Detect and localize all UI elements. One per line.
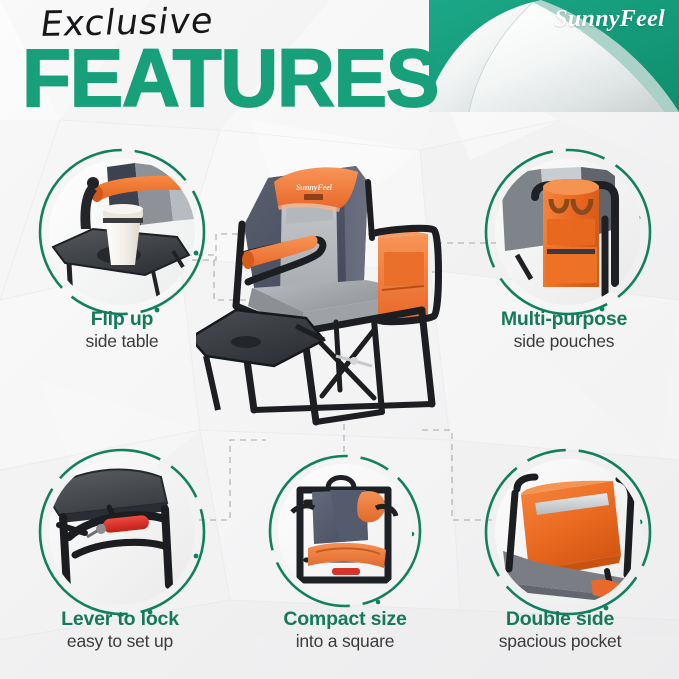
feature-callout-double-side-pocket[interactable] bbox=[482, 446, 654, 618]
hero-product-image: SunnyFeel bbox=[196, 160, 486, 430]
feature-subtitle: easy to set up bbox=[0, 631, 240, 652]
feature-label-double-side-pocket: Double side spacious pocket bbox=[440, 609, 679, 651]
feature-callout-flip-up-side-table[interactable] bbox=[36, 146, 208, 318]
feature-callout-multi-purpose-side-pouches[interactable] bbox=[482, 146, 654, 318]
feature-callout-lever-to-lock[interactable] bbox=[36, 446, 208, 618]
orange-side-pouch-photo bbox=[495, 159, 641, 305]
red-lever-under-table-photo bbox=[49, 459, 195, 605]
orange-back-pocket-photo bbox=[495, 459, 641, 605]
feature-callout-compact-size[interactable] bbox=[266, 452, 424, 610]
feature-subtitle: into a square bbox=[225, 631, 465, 652]
feature-label-lever-to-lock: Lever to lock easy to set up bbox=[0, 609, 240, 651]
feature-label-compact-size: Compact size into a square bbox=[225, 609, 465, 651]
feature-subtitle: spacious pocket bbox=[440, 631, 679, 652]
side-table-with-cup-photo bbox=[49, 159, 195, 305]
feature-title: Compact size bbox=[225, 609, 465, 631]
infographic-page: . SunnyFeel Exclusive FEATURES bbox=[0, 0, 679, 679]
feature-title: Double side bbox=[440, 609, 679, 631]
backrest-logo-text: SunnyFeel bbox=[296, 183, 333, 192]
feature-title: Lever to lock bbox=[0, 609, 240, 631]
folded-chair-square-photo bbox=[278, 464, 412, 598]
